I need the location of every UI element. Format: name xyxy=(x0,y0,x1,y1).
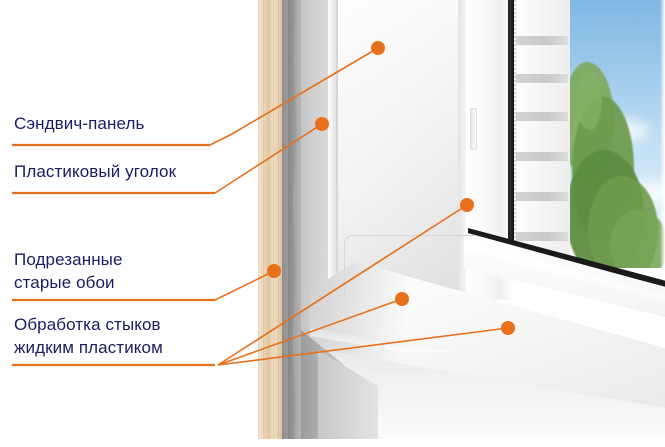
jamb-latch-plate xyxy=(470,108,477,150)
sash-reflection-band xyxy=(516,192,568,201)
sash-reflection-band xyxy=(516,36,568,45)
leader-sandwich-panel xyxy=(210,134,232,145)
sash-reflection-band xyxy=(516,112,568,121)
photo-bottom-margin xyxy=(258,439,665,447)
window-photo xyxy=(258,0,665,447)
tree-foliage xyxy=(576,70,602,130)
label-plastic-corner: Пластиковый уголок xyxy=(14,160,176,183)
sash-reflection-band xyxy=(516,152,568,161)
sash-reflection-band xyxy=(516,232,568,241)
tree-foliage xyxy=(610,210,665,268)
label-trimmed-old-wallpaper: Подрезанные старые обои xyxy=(14,248,123,294)
label-liquid-plastic-joints: Обработка стыков жидким пластиком xyxy=(14,313,163,359)
label-sandwich-panel: Сэндвич-панель xyxy=(14,112,144,135)
glass-right-edge xyxy=(660,0,665,268)
sash-reflection-band xyxy=(516,74,568,83)
diagram-canvas: Сэндвич-панель Пластиковый уголок Подрез… xyxy=(0,0,665,447)
wood-grain-texture xyxy=(258,0,283,439)
window-glass xyxy=(570,0,665,268)
liquid-plastic-joint-line xyxy=(344,235,475,298)
